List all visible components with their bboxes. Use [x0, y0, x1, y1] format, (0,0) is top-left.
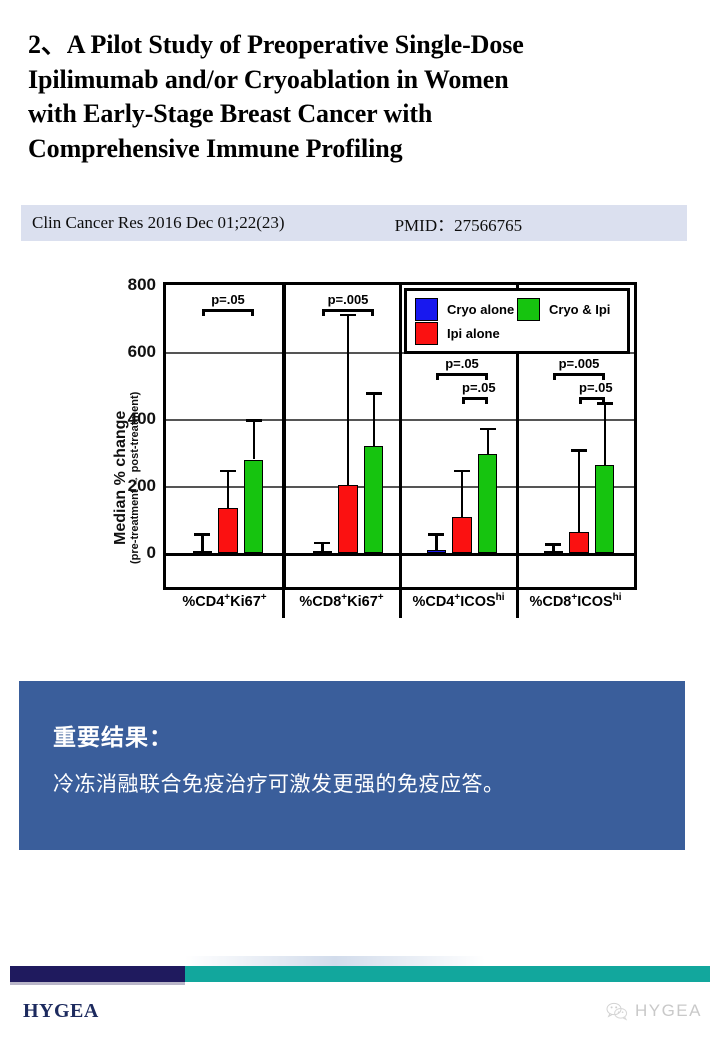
legend-item-cryo-alone: Cryo alone [415, 297, 517, 321]
errorbar-%CD8+Ki67+-1 [347, 314, 350, 485]
p-bracket-left-tick [436, 373, 439, 380]
title-line-1: 2、A Pilot Study of Preoperative Single-D… [28, 28, 688, 63]
chart-panel-%CD4+Ki67+: p=.05 [166, 285, 283, 587]
p-bracket-right-tick [371, 309, 374, 316]
footer-wechat-label: HYGEA [635, 1001, 702, 1021]
y-tick-400: 400 [128, 409, 156, 429]
errorbar-%CD4+Ki67+-2 [253, 419, 256, 459]
x-label-divider-1 [282, 590, 285, 618]
p-value-label: p=.005 [322, 292, 373, 307]
errorbar-cap-%CD4+Ki67+-2 [246, 419, 262, 422]
p-bracket-right-tick [485, 373, 488, 380]
p-bracket-line [462, 397, 488, 400]
bar-%CD8+ICOShi-ipi-alone [569, 532, 588, 554]
x-axis-tick-labels: %CD4+Ki67+%CD8+Ki67+%CD4+ICOShi%CD8+ICOS… [163, 592, 637, 622]
errorbar-cap-%CD4+Ki67+-1 [220, 470, 236, 473]
legend-item-cryo-ipi: Cryo & Ipi [517, 297, 619, 321]
p-bracket-line [579, 397, 605, 400]
p-bracket-line [202, 309, 253, 312]
citation-journal: Clin Cancer Res 2016 Dec 01;22(23) [32, 213, 285, 233]
bar-%CD8+ICOShi-cryo-ipi [595, 465, 614, 554]
legend-swatch [517, 298, 540, 321]
citation-bar: Clin Cancer Res 2016 Dec 01;22(23) PMID：… [21, 205, 687, 241]
p-value-label: p=.05 [579, 380, 605, 395]
bar-%CD4+Ki67+-cryo-ipi [244, 460, 263, 554]
citation-pmid: PMID：27566765 [395, 211, 523, 236]
figure-bar-chart: Median % change (pre-treatment → post-tr… [78, 266, 648, 626]
panel-divider-2 [399, 285, 402, 587]
bar-%CD4+Ki67+-ipi-alone [218, 508, 237, 553]
page-title: 2、A Pilot Study of Preoperative Single-D… [28, 28, 688, 166]
p-bracket-left-tick [553, 373, 556, 380]
y-axis-tick-labels: 0200400600800 [118, 266, 160, 566]
x-axis-label-%CD8+ICOShi: %CD8+ICOShi [517, 592, 634, 610]
errorbar-%CD8+ICOShi-2 [604, 402, 607, 464]
errorbar-%CD8+ICOShi-1 [578, 449, 581, 531]
footer-wechat: HYGEA [606, 1001, 702, 1021]
key-results-box: 重要结果： 冷冻消融联合免疫治疗可激发更强的免疫应答。 [19, 681, 685, 850]
wechat-icon [606, 1002, 628, 1021]
p-bracket-right-tick [251, 309, 254, 316]
p-bracket-left-tick [579, 397, 582, 404]
p-bracket-left-tick [322, 309, 325, 316]
title-line-4: Comprehensive Immune Profiling [28, 132, 688, 167]
y-tick-800: 800 [128, 275, 156, 295]
p-value-label: p=.05 [436, 356, 487, 371]
errorbar-cap-%CD8+ICOShi-0 [545, 543, 561, 546]
y-tick-200: 200 [128, 476, 156, 496]
errorbar-cap-%CD4+ICOShi-0 [428, 533, 444, 536]
y-tick-0: 0 [147, 543, 156, 563]
bar-%CD4+ICOShi-ipi-alone [452, 517, 471, 554]
errorbar-cap-%CD8+ICOShi-2 [597, 402, 613, 405]
errorbar-%CD4+ICOShi-2 [487, 428, 490, 455]
p-bracket-line [322, 309, 373, 312]
errorbar-cap-%CD8+Ki67+-1 [340, 314, 356, 317]
x-label-divider-3 [516, 590, 519, 618]
footer-smudge [185, 956, 485, 966]
x-label-divider-2 [399, 590, 402, 618]
bar-%CD8+Ki67+-ipi-alone [338, 485, 357, 554]
errorbar-%CD4+Ki67+-1 [227, 470, 230, 509]
errorbar-%CD4+Ki67+-0 [201, 533, 204, 552]
p-bracket-right-tick [602, 373, 605, 380]
p-bracket-right-tick [602, 397, 605, 404]
footer-brand: HYGEA [23, 1000, 99, 1023]
slide: 2、A Pilot Study of Preoperative Single-D… [0, 0, 720, 1040]
x-axis-label-%CD8+Ki67+: %CD8+Ki67+ [283, 592, 400, 610]
panel-divider-1 [282, 285, 285, 587]
bar-%CD8+ICOShi-cryo-alone [544, 551, 563, 553]
legend-label: Cryo & Ipi [549, 302, 610, 317]
errorbar-%CD8+Ki67+-2 [373, 392, 376, 446]
p-bracket-left-tick [202, 309, 205, 316]
legend-swatch [415, 298, 438, 321]
errorbar-cap-%CD8+Ki67+-0 [314, 542, 330, 545]
errorbar-cap-%CD4+ICOShi-2 [480, 428, 496, 431]
p-bracket-line [436, 373, 487, 376]
chart-panel-%CD8+Ki67+: p=.005 [283, 285, 400, 587]
legend-label: Ipi alone [447, 326, 500, 341]
x-axis-label-%CD4+ICOShi: %CD4+ICOShi [400, 592, 517, 610]
errorbar-cap-%CD4+ICOShi-1 [454, 470, 470, 473]
legend-item-ipi-alone: Ipi alone [415, 321, 517, 345]
footer-navy-bar [10, 966, 185, 982]
bar-%CD8+Ki67+-cryo-ipi [364, 446, 383, 553]
footer-teal-bar [185, 966, 710, 982]
footer-navy-shadow [10, 982, 185, 985]
legend-swatch [415, 322, 438, 345]
p-value-label: p=.005 [553, 356, 604, 371]
p-value-label: p=.05 [202, 292, 253, 307]
chart-legend: Cryo aloneCryo & IpiIpi alone [404, 288, 630, 354]
title-line-2: Ipilimumab and/or Cryoablation in Women [28, 63, 688, 98]
title-line-3: with Early-Stage Breast Cancer with [28, 97, 688, 132]
y-axis-label: Median % change (pre-treatment → post-tr… [78, 268, 118, 568]
bar-%CD4+ICOShi-cryo-alone [427, 550, 446, 553]
key-results-heading: 重要结果： [53, 718, 173, 752]
x-axis-label-%CD4+Ki67+: %CD4+Ki67+ [166, 592, 283, 610]
plot-area: p=.05p=.005p=.05p=.05p=.005p=.05Cryo alo… [163, 282, 637, 590]
p-bracket-left-tick [462, 397, 465, 404]
p-bracket-right-tick [485, 397, 488, 404]
legend-label: Cryo alone [447, 302, 514, 317]
errorbar-cap-%CD8+Ki67+-2 [366, 392, 382, 395]
errorbar-%CD4+ICOShi-0 [435, 533, 438, 550]
errorbar-cap-%CD4+Ki67+-0 [194, 533, 210, 536]
bar-%CD4+ICOShi-cryo-ipi [478, 454, 497, 553]
p-bracket-line [553, 373, 604, 376]
key-results-body: 冷冻消融联合免疫治疗可激发更强的免疫应答。 [53, 768, 505, 798]
errorbar-cap-%CD8+ICOShi-1 [571, 449, 587, 452]
errorbar-%CD4+ICOShi-1 [461, 470, 464, 517]
p-value-label: p=.05 [462, 380, 488, 395]
y-tick-600: 600 [128, 342, 156, 362]
